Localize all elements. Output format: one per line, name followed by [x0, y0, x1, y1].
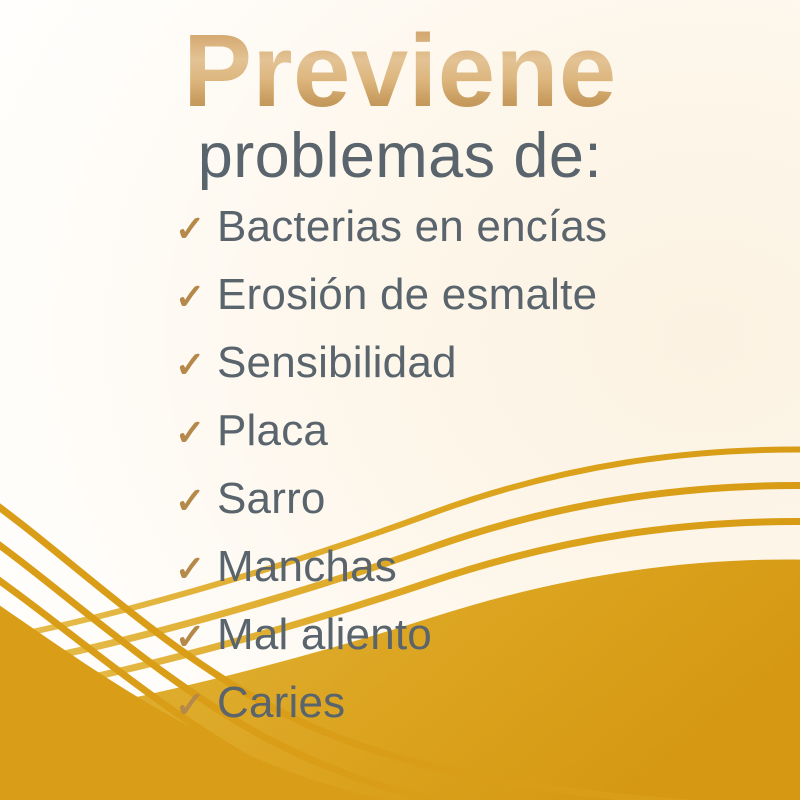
- check-icon: ✓: [175, 347, 217, 383]
- list-item-label: Erosión de esmalte: [217, 273, 735, 317]
- list-item: ✓ Sensibilidad: [175, 341, 735, 409]
- check-icon: ✓: [175, 551, 217, 587]
- list-item: ✓ Sarro: [175, 477, 735, 545]
- list-item-label: Sensibilidad: [217, 341, 735, 385]
- list-item: ✓ Erosión de esmalte: [175, 273, 735, 341]
- page-subtitle: problemas de:: [0, 119, 800, 193]
- list-item: ✓ Mal aliento: [175, 613, 735, 681]
- check-icon: ✓: [175, 483, 217, 519]
- check-icon: ✓: [175, 279, 217, 315]
- list-item-label: Bacterias en encías: [217, 205, 735, 249]
- check-icon: ✓: [175, 619, 217, 655]
- list-item: ✓ Placa: [175, 409, 735, 477]
- list-item-label: Manchas: [217, 545, 735, 589]
- headline-block: Previene problemas de:: [0, 18, 800, 193]
- list-item-label: Mal aliento: [217, 613, 735, 657]
- check-icon: ✓: [175, 687, 217, 723]
- check-icon: ✓: [175, 415, 217, 451]
- page-title: Previene: [0, 18, 800, 123]
- check-icon: ✓: [175, 211, 217, 247]
- list-item-label: Sarro: [217, 477, 735, 521]
- list-item-label: Caries: [217, 681, 735, 725]
- list-item: ✓ Caries: [175, 681, 735, 749]
- list-item: ✓ Bacterias en encías: [175, 205, 735, 273]
- list-item: ✓ Manchas: [175, 545, 735, 613]
- list-item-label: Placa: [217, 409, 735, 453]
- promo-poster: Previene problemas de: ✓ Bacterias en en…: [0, 0, 800, 800]
- prevented-problems-list: ✓ Bacterias en encías ✓ Erosión de esmal…: [175, 205, 735, 749]
